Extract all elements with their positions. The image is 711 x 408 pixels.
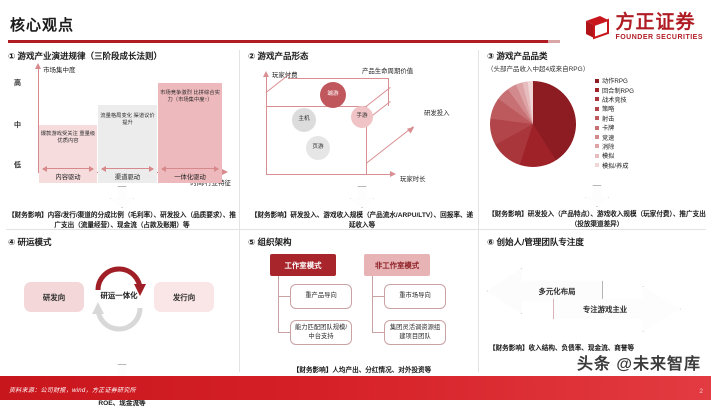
- legend-item: 战术竞技: [595, 95, 634, 104]
- legend-label: 回合制RPG: [602, 86, 634, 95]
- cube-z-arrowhead: [407, 124, 416, 133]
- panel-5-title: ⑤ 组织架构: [248, 236, 476, 248]
- cycle-arrows-icon: [88, 260, 150, 338]
- panel-dev-operate-model: ④ 研运模式 研发向 发行向 研运一体化 【财务影响】毛利率和成本费用构成（重研…: [8, 236, 236, 372]
- bubble-duanyou: 端游: [320, 82, 346, 108]
- footer-source: 资料来源：公司财报，wind，方正证券研究所: [9, 385, 136, 394]
- footer-page-number: 2: [699, 388, 703, 395]
- legend-swatch: [595, 107, 599, 111]
- stage-3-span-arrow: [162, 168, 218, 169]
- brand-logo: 方正证券 FOUNDER SECURITIES: [584, 10, 703, 44]
- legend-item: 射击: [595, 114, 634, 123]
- legend-label: 竞速: [602, 133, 614, 142]
- bubble-yeyou: 页游: [306, 136, 330, 160]
- legend-item: 模拟: [595, 151, 634, 160]
- panel-product-form: ② 游戏产品形态 端游: [248, 50, 476, 226]
- legend-swatch: [595, 116, 599, 120]
- legend-item: 竞速: [595, 132, 634, 141]
- panel-1-down-arrow-icon: [110, 186, 134, 208]
- cube-axis-z-label: 研发投入: [424, 108, 450, 117]
- cycle-chart: 研发向 发行向 研运一体化: [8, 254, 233, 364]
- legend-item: 模拟/养成: [595, 161, 634, 170]
- stage-3-body: 市场竞争激烈 比拼综合实力（市场集中度↑）: [158, 90, 222, 104]
- panel-3-down-arrow-icon: [585, 185, 609, 207]
- panel-industry-evolution: ① 游戏产业演进规律（三阶段成长法则） 市场集中度 时间/行业特征 高 中 低 …: [8, 50, 236, 226]
- stage-2-driver: 渠道驱动: [98, 172, 157, 181]
- cube-x-arrowhead: [390, 171, 396, 177]
- legend-item: 消除: [595, 142, 634, 151]
- legend-swatch: [595, 135, 599, 139]
- title-underline: [8, 40, 548, 43]
- org-col2-branch-1: [372, 296, 384, 297]
- cube-axis-y-label: 玩家付费: [272, 70, 298, 79]
- org-col1-branch-1: [278, 296, 290, 297]
- watermark-text: 头条 @未来智库: [577, 350, 701, 374]
- cube-x-axis: [266, 174, 391, 175]
- org-col1-item-2: 能力匹配团队规模/中台支持: [290, 320, 352, 345]
- grid-divider-vertical-1: [239, 50, 240, 372]
- stage-1-body: 爆款游戏受关注 重量级优质内容: [39, 131, 97, 145]
- panel-1-financial-impact: 【财务影响】内容/发行/渠道的分成比例（毛利率）、研发投入（品质要求）、推广支出…: [8, 211, 236, 230]
- panel-3-subtitle: （头部产品收入中超4成来自RPG）: [487, 63, 707, 73]
- legend-item: 动作RPG: [595, 76, 634, 85]
- bubble-shouyou: 手游: [351, 106, 373, 128]
- legend-item: 卡牌: [595, 123, 634, 132]
- org-col2-item-2: 集团灵活调资源组建项目团队: [384, 320, 446, 345]
- slide-root: 核心观点 方正证券 FOUNDER SECURITIES ① 游戏产业演进规律（…: [0, 0, 711, 400]
- cube-chart: 端游 手游 主机 页游 玩家付费 产品生命周期价值 研发投入 玩家时长: [248, 64, 473, 186]
- founder-logo-icon: [584, 14, 610, 40]
- y-tick-mid: 中: [14, 120, 21, 130]
- legend-swatch: [595, 97, 599, 101]
- grid-divider-vertical-2: [478, 50, 479, 372]
- cycle-right-box: 发行向: [154, 282, 214, 312]
- legend-label: 消除: [602, 142, 614, 151]
- legend-swatch: [595, 144, 599, 148]
- page-title: 核心观点: [10, 14, 74, 35]
- panel-3-title: ③ 游戏产品品类: [487, 50, 707, 62]
- stage-bar-2: 流量格局变化 渠道议价提升 渠道驱动: [98, 105, 157, 183]
- panel-6-title: ⑥ 创始人/管理团队专注度: [487, 236, 707, 248]
- stage-2-span-arrow: [102, 168, 153, 169]
- org-col2-header: 非工作室模式: [364, 254, 430, 276]
- title-underline-fade: [548, 40, 560, 43]
- panel-4-title: ④ 研运模式: [8, 236, 236, 248]
- y-tick-low: 低: [14, 160, 21, 170]
- legend-label: 战术竞技: [602, 95, 627, 104]
- cube-y-arrowhead: [263, 71, 269, 77]
- cube-axis-x-label: 玩家时长: [400, 174, 426, 183]
- pie-graphic: [490, 81, 576, 167]
- cube-z-axis: [366, 126, 414, 164]
- footer-bar: 资料来源：公司财报，wind，方正证券研究所 2: [0, 376, 711, 400]
- panel-1-title: ① 游戏产业演进规律（三阶段成长法则）: [8, 50, 236, 62]
- stage-1-span-arrow: [43, 168, 93, 169]
- legend-swatch: [595, 88, 599, 92]
- focus-arrows-chart: 多元化布局 专注游戏主业: [487, 260, 702, 360]
- y-tick-high: 高: [14, 78, 21, 88]
- logo-text-cn: 方正证券: [615, 13, 703, 32]
- cycle-left-box: 研发向: [24, 282, 84, 312]
- cube-corner-note: 产品生命周期价值: [362, 66, 413, 75]
- stage-3-driver: 一体化驱动: [158, 172, 222, 181]
- org-chart: 工作室模式 非工作室模式 重产品导向 能力匹配团队规模/中台支持 重市场导向 集…: [248, 252, 476, 360]
- org-col1-branch-2: [278, 332, 290, 333]
- panel-3-financial-impact: 【财务影响】研发投入（产品特点）、游戏收入规模（玩家付费）、推广支出（投放渠道差…: [487, 210, 707, 229]
- org-col1-item-1: 重产品导向: [290, 284, 352, 309]
- legend-swatch: [595, 79, 599, 83]
- panel-org-structure: ⑤ 组织架构 工作室模式 非工作室模式 重产品导向 能力匹配团队规模/中台支持 …: [248, 236, 476, 372]
- y-axis-label: 市场集中度: [43, 64, 76, 74]
- panel-product-genre: ③ 游戏产品品类 （头部产品收入中超4成来自RPG） 动作RPG回合制RPG战术…: [487, 50, 707, 226]
- legend-label: 动作RPG: [602, 76, 628, 85]
- legend-label: 卡牌: [602, 123, 614, 132]
- panel-grid: ① 游戏产业演进规律（三阶段成长法则） 市场集中度 时间/行业特征 高 中 低 …: [0, 46, 711, 376]
- legend-swatch: [595, 126, 599, 130]
- genre-pie-chart: 动作RPG回合制RPG战术竞技策略射击卡牌竞速消除模拟模拟/养成: [487, 75, 702, 185]
- legend-item: 策略: [595, 104, 634, 113]
- stage-bar-3: 市场竞争激烈 比拼综合实力（市场集中度↑） 一体化驱动: [158, 83, 222, 183]
- bubble-zhuji: 主机: [292, 108, 316, 132]
- panel-2-title: ② 游戏产品形态: [248, 50, 476, 62]
- org-col2-item-1: 重市场导向: [384, 284, 446, 309]
- panel-2-down-arrow-icon: [350, 186, 374, 208]
- stage-chart: 市场集中度 时间/行业特征 高 中 低 爆款游戏受关注 重量级优质内容 内容驱动…: [8, 64, 233, 184]
- org-col1-header: 工作室模式: [270, 254, 336, 276]
- legend-item: 回合制RPG: [595, 85, 634, 94]
- legend-label: 模拟/养成: [602, 161, 628, 170]
- pie-legend: 动作RPG回合制RPG战术竞技策略射击卡牌竞速消除模拟模拟/养成: [595, 76, 634, 170]
- panel-2-financial-impact: 【财务影响】研发投入、游戏收入规模（产品流水/ARPU/LTV）、回报率、递延收…: [248, 211, 476, 230]
- org-col2-branch-2: [372, 332, 384, 333]
- legend-label: 策略: [602, 104, 614, 113]
- cube-back-top: [288, 78, 388, 79]
- logo-text-en: FOUNDER SECURITIES: [615, 34, 703, 41]
- legend-swatch: [595, 163, 599, 167]
- legend-label: 射击: [602, 114, 614, 123]
- org-col2-spine: [372, 276, 373, 332]
- cube-front-top: [266, 106, 366, 107]
- legend-swatch: [595, 154, 599, 158]
- legend-label: 模拟: [602, 151, 614, 160]
- org-col1-spine: [278, 276, 279, 332]
- stage-2-body: 流量格局变化 渠道议价提升: [98, 113, 157, 127]
- stage-1-driver: 内容驱动: [39, 172, 97, 181]
- stage-bar-1: 爆款游戏受关注 重量级优质内容 内容驱动: [39, 125, 97, 183]
- panel-5-financial-impact: 【财务影响】人均产出、分红情况、对外投资等: [248, 366, 476, 376]
